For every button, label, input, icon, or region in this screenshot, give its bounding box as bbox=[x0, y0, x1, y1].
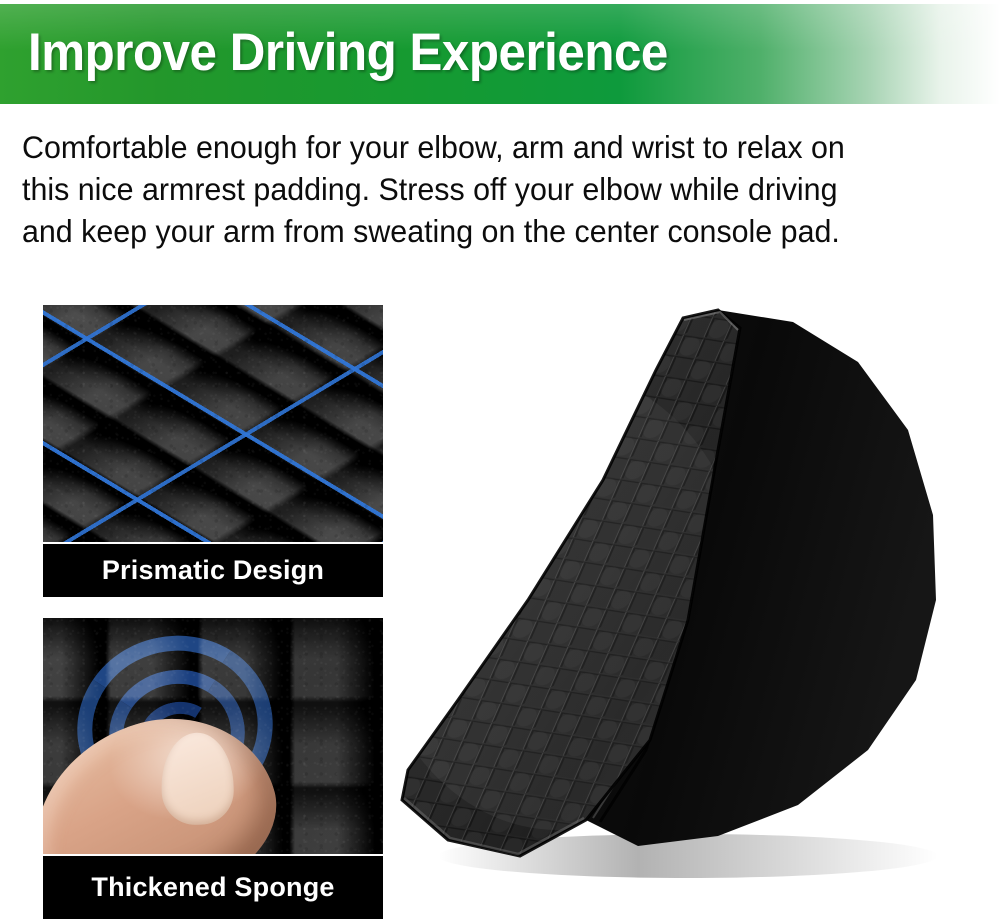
description-line-1: Comfortable enough for your elbow, arm a… bbox=[22, 126, 939, 168]
product-feature-image: Improve Driving Experience Comfortable e… bbox=[0, 0, 1000, 919]
description-line-3: and keep your arm from sweating on the c… bbox=[22, 210, 939, 252]
page-title: Improve Driving Experience bbox=[28, 26, 668, 79]
description-line-2: this nice armrest padding. Stress off yo… bbox=[22, 168, 939, 210]
product-photo bbox=[388, 300, 1000, 880]
description-text: Comfortable enough for your elbow, arm a… bbox=[22, 126, 939, 252]
prismatic-design-photo bbox=[43, 305, 383, 542]
thickened-sponge-photo bbox=[43, 618, 383, 854]
feature-panel-prismatic-design: Prismatic Design bbox=[43, 305, 383, 597]
header-banner: Improve Driving Experience bbox=[0, 4, 1000, 104]
quilted-leather-texture bbox=[43, 305, 383, 542]
feature-panel-thickened-sponge: Thickened Sponge bbox=[43, 618, 383, 919]
feature-caption-prismatic-design: Prismatic Design bbox=[43, 544, 383, 597]
feature-caption-thickened-sponge: Thickened Sponge bbox=[43, 856, 383, 919]
armrest-cover-illustration bbox=[388, 300, 1000, 880]
